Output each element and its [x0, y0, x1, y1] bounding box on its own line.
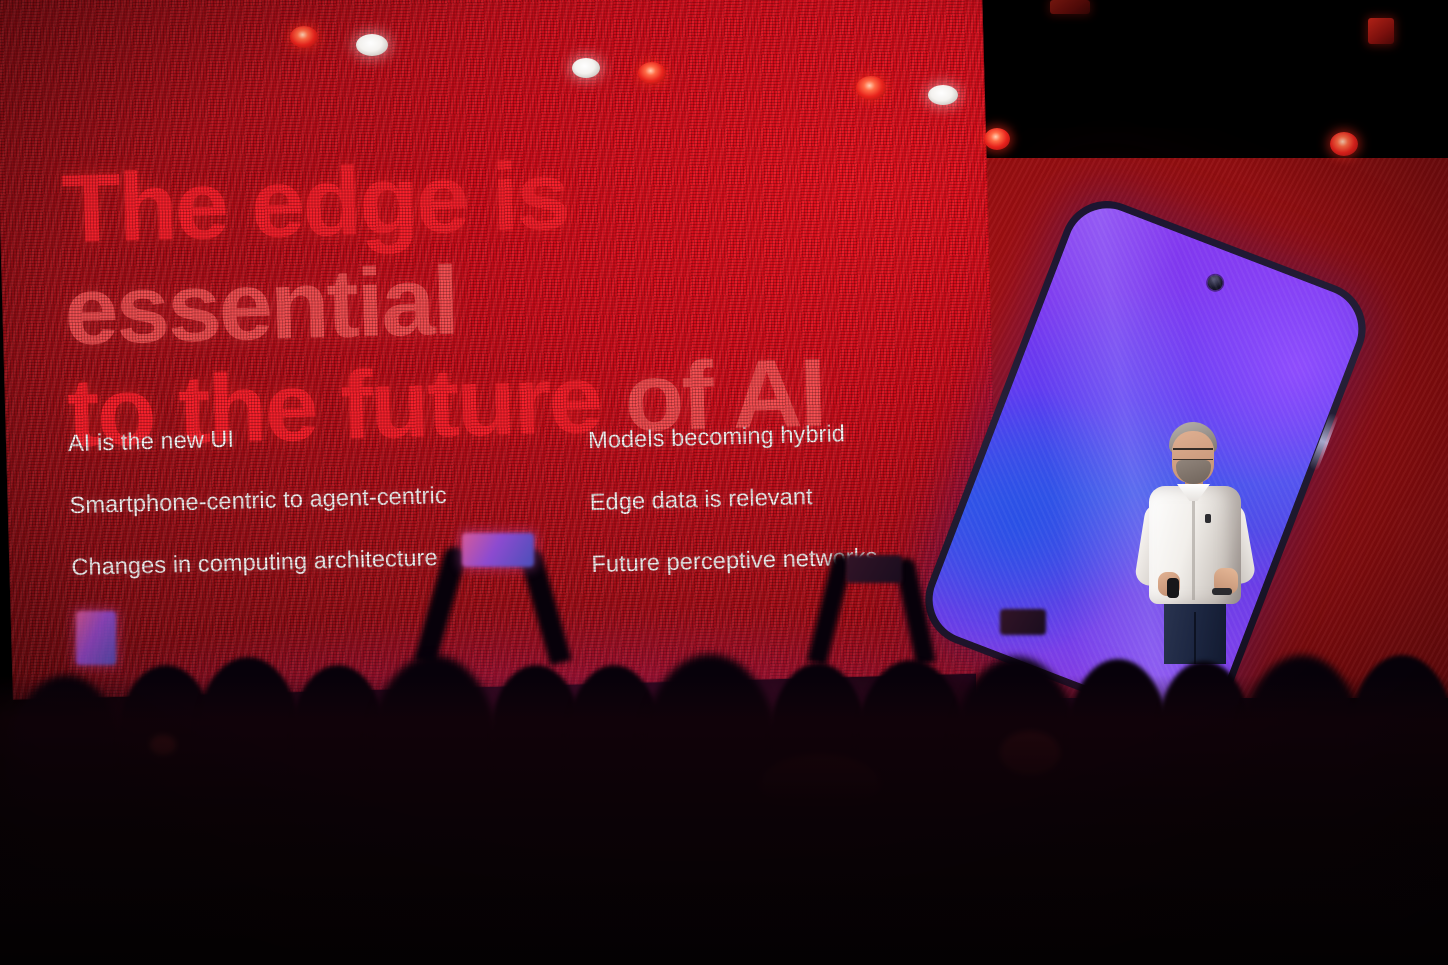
keynote-stage-photo: The edge is essentialto the future of AI… [0, 0, 1448, 965]
audience-head [566, 665, 662, 823]
stage-light-white-icon [356, 34, 388, 56]
wristwatch-icon [1212, 588, 1232, 595]
bullet-item: Changes in computing architecture [71, 541, 562, 581]
lapel-microphone-icon [1205, 514, 1211, 523]
stage-light-red-icon [638, 62, 666, 84]
speaker-leg-split [1194, 612, 1196, 664]
bullet-item: Future perceptive networks [591, 541, 952, 578]
keynote-speaker [1128, 422, 1268, 662]
audience-foreground-mass [0, 675, 1448, 965]
lens-flare [1000, 731, 1060, 775]
stage-light-fixture-icon [1050, 0, 1090, 14]
slide-content: The edge is essentialto the future of AI… [0, 0, 1001, 700]
stage-light-white-icon [572, 58, 600, 78]
bullet-item: Smartphone-centric to agent-centric [69, 479, 560, 519]
headline-line1-dim: essential [63, 245, 458, 365]
stage-light-red-icon [1330, 132, 1358, 156]
stage-light-red-icon [856, 76, 886, 100]
speaker-shirt-placket [1192, 500, 1195, 600]
glasses-icon [1173, 448, 1213, 460]
stage-light-white-icon [928, 85, 958, 105]
main-led-wall: The edge is essentialto the future of AI… [0, 0, 1001, 700]
stage-light-red-icon [984, 128, 1010, 150]
bullet-column-left: AI is the new UI Smartphone-centric to a… [68, 417, 563, 627]
stage-light-red-icon [290, 26, 318, 48]
headline-line1-bright: The edge is [60, 140, 593, 263]
audience-head [856, 660, 966, 835]
bullet-column-right: Models becoming hybrid Edge data is rele… [587, 406, 952, 613]
audience-head [10, 675, 122, 845]
bullet-item: Models becoming hybrid [588, 417, 949, 454]
audience-head [770, 663, 866, 815]
lens-flare [760, 755, 880, 815]
audience-head [640, 654, 780, 869]
front-camera-icon [1206, 273, 1225, 292]
bullet-item: Edge data is relevant [589, 479, 950, 516]
lens-flare [150, 735, 176, 755]
stage-light-fixture-icon [1368, 18, 1394, 44]
slide-bullet-columns: AI is the new UI Smartphone-centric to a… [68, 406, 953, 627]
presentation-clicker-icon [1167, 578, 1179, 598]
